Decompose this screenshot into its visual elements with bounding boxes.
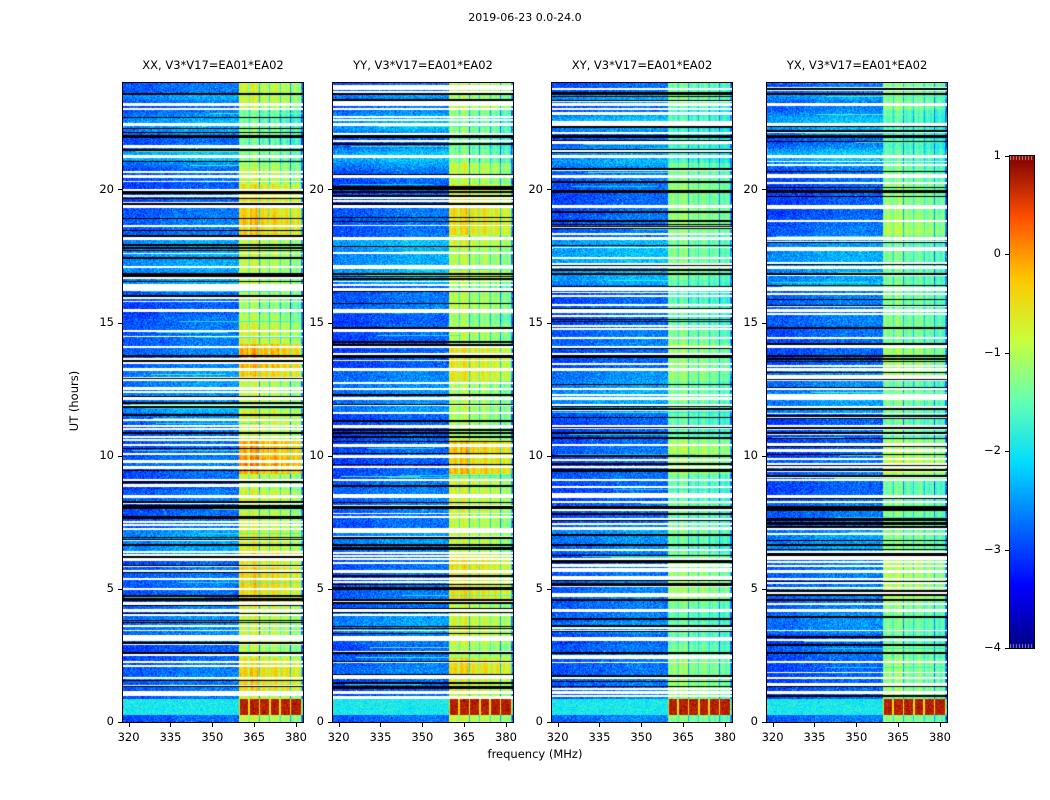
waterfall-panel-yx[interactable] xyxy=(766,82,948,723)
y-tickmark xyxy=(547,189,551,190)
y-tickmark xyxy=(762,189,766,190)
x-tickmark xyxy=(464,723,465,727)
x-tickmark xyxy=(898,723,899,727)
colorbar-tick-label: −3 xyxy=(965,542,1001,556)
y-tick-label: 10 xyxy=(82,448,114,462)
colorbar xyxy=(1009,155,1035,649)
y-tickmark xyxy=(118,323,122,324)
waterfall-panel-xy[interactable] xyxy=(551,82,733,723)
y-tick-label: 10 xyxy=(292,448,324,462)
panel-title-yy: YY, V3*V17=EA01*EA02 xyxy=(332,58,514,72)
y-tick-label: 20 xyxy=(511,182,543,196)
y-tickmark xyxy=(328,722,332,723)
y-tickmark xyxy=(547,456,551,457)
y-tickmark xyxy=(328,456,332,457)
x-tickmark xyxy=(558,723,559,727)
x-tickmark xyxy=(773,723,774,727)
colorbar-tick-label: 1 xyxy=(965,148,1001,162)
x-tickmark xyxy=(212,723,213,727)
x-tickmark xyxy=(170,723,171,727)
x-tick-label: 320 xyxy=(538,730,578,744)
x-tick-label: 380 xyxy=(276,730,316,744)
y-tickmark xyxy=(547,589,551,590)
y-tickmark xyxy=(118,589,122,590)
x-tick-label: 320 xyxy=(109,730,149,744)
figure-canvas: 2019-06-23 0.0-24.0 XX, V3*V17=EA01*EA02… xyxy=(0,0,1050,800)
waterfall-panel-yy[interactable] xyxy=(332,82,514,723)
y-tickmark xyxy=(762,323,766,324)
x-tick-label: 350 xyxy=(402,730,442,744)
colorbar-tickmark xyxy=(1005,451,1009,452)
y-tick-label: 20 xyxy=(82,182,114,196)
colorbar-tickmark xyxy=(1005,550,1009,551)
x-tickmark xyxy=(380,723,381,727)
y-axis-label: UT (hours) xyxy=(67,341,81,461)
x-tickmark xyxy=(506,723,507,727)
figure-suptitle: 2019-06-23 0.0-24.0 xyxy=(0,11,1050,24)
x-tick-label: 365 xyxy=(234,730,274,744)
x-tickmark xyxy=(856,723,857,727)
x-tickmark xyxy=(814,723,815,727)
panel-title-xx: XX, V3*V17=EA01*EA02 xyxy=(122,58,304,72)
y-tick-label: 5 xyxy=(511,581,543,595)
y-tickmark xyxy=(118,456,122,457)
x-tick-label: 350 xyxy=(192,730,232,744)
x-tickmark xyxy=(339,723,340,727)
colorbar-tick-label: −2 xyxy=(965,443,1001,457)
y-tick-label: 0 xyxy=(726,714,758,728)
x-tick-label: 335 xyxy=(150,730,190,744)
x-tick-label: 350 xyxy=(836,730,876,744)
y-tick-label: 15 xyxy=(292,315,324,329)
y-tick-label: 5 xyxy=(726,581,758,595)
x-tickmark xyxy=(641,723,642,727)
panel-title-yx: YX, V3*V17=EA01*EA02 xyxy=(766,58,948,72)
y-tick-label: 10 xyxy=(511,448,543,462)
y-tick-label: 20 xyxy=(726,182,758,196)
x-tick-label: 335 xyxy=(360,730,400,744)
colorbar-tick-label: 0 xyxy=(965,246,1001,260)
y-tick-label: 15 xyxy=(726,315,758,329)
y-tick-label: 10 xyxy=(726,448,758,462)
y-tick-label: 0 xyxy=(511,714,543,728)
x-tickmark xyxy=(683,723,684,727)
x-tick-label: 365 xyxy=(878,730,918,744)
y-tick-label: 15 xyxy=(511,315,543,329)
y-tickmark xyxy=(762,589,766,590)
y-tickmark xyxy=(118,722,122,723)
colorbar-tick-label: −1 xyxy=(965,345,1001,359)
x-tick-label: 335 xyxy=(794,730,834,744)
y-tick-label: 5 xyxy=(82,581,114,595)
x-tick-label: 380 xyxy=(486,730,526,744)
x-tickmark xyxy=(422,723,423,727)
y-tickmark xyxy=(762,722,766,723)
colorbar-tickmark xyxy=(1005,353,1009,354)
x-tickmark xyxy=(599,723,600,727)
x-axis-label: frequency (MHz) xyxy=(122,747,948,761)
colorbar-tickmark xyxy=(1005,254,1009,255)
x-tick-label: 365 xyxy=(444,730,484,744)
y-tickmark xyxy=(328,189,332,190)
y-tickmark xyxy=(328,589,332,590)
y-tick-label: 0 xyxy=(292,714,324,728)
y-tick-label: 15 xyxy=(82,315,114,329)
waterfall-image-xx xyxy=(123,83,303,722)
panel-title-xy: XY, V3*V17=EA01*EA02 xyxy=(551,58,733,72)
colorbar-tick-label: −4 xyxy=(965,640,1001,654)
colorbar-gradient xyxy=(1010,156,1034,648)
x-tick-label: 335 xyxy=(579,730,619,744)
waterfall-image-yy xyxy=(333,83,513,722)
y-tickmark xyxy=(762,456,766,457)
y-tick-label: 20 xyxy=(292,182,324,196)
x-tickmark xyxy=(940,723,941,727)
x-tick-label: 365 xyxy=(663,730,703,744)
x-tick-label: 320 xyxy=(753,730,793,744)
waterfall-image-yx xyxy=(767,83,947,722)
y-tick-label: 5 xyxy=(292,581,324,595)
y-tickmark xyxy=(547,722,551,723)
colorbar-tickmark xyxy=(1005,156,1009,157)
x-tickmark xyxy=(129,723,130,727)
y-tick-label: 0 xyxy=(82,714,114,728)
x-tick-label: 380 xyxy=(920,730,960,744)
y-tickmark xyxy=(547,323,551,324)
waterfall-panel-xx[interactable] xyxy=(122,82,304,723)
x-tickmark xyxy=(254,723,255,727)
y-tickmark xyxy=(328,323,332,324)
colorbar-tickmark xyxy=(1005,648,1009,649)
waterfall-image-xy xyxy=(552,83,732,722)
y-tickmark xyxy=(118,189,122,190)
x-tick-label: 350 xyxy=(621,730,661,744)
x-tick-label: 320 xyxy=(319,730,359,744)
x-tick-label: 380 xyxy=(705,730,745,744)
